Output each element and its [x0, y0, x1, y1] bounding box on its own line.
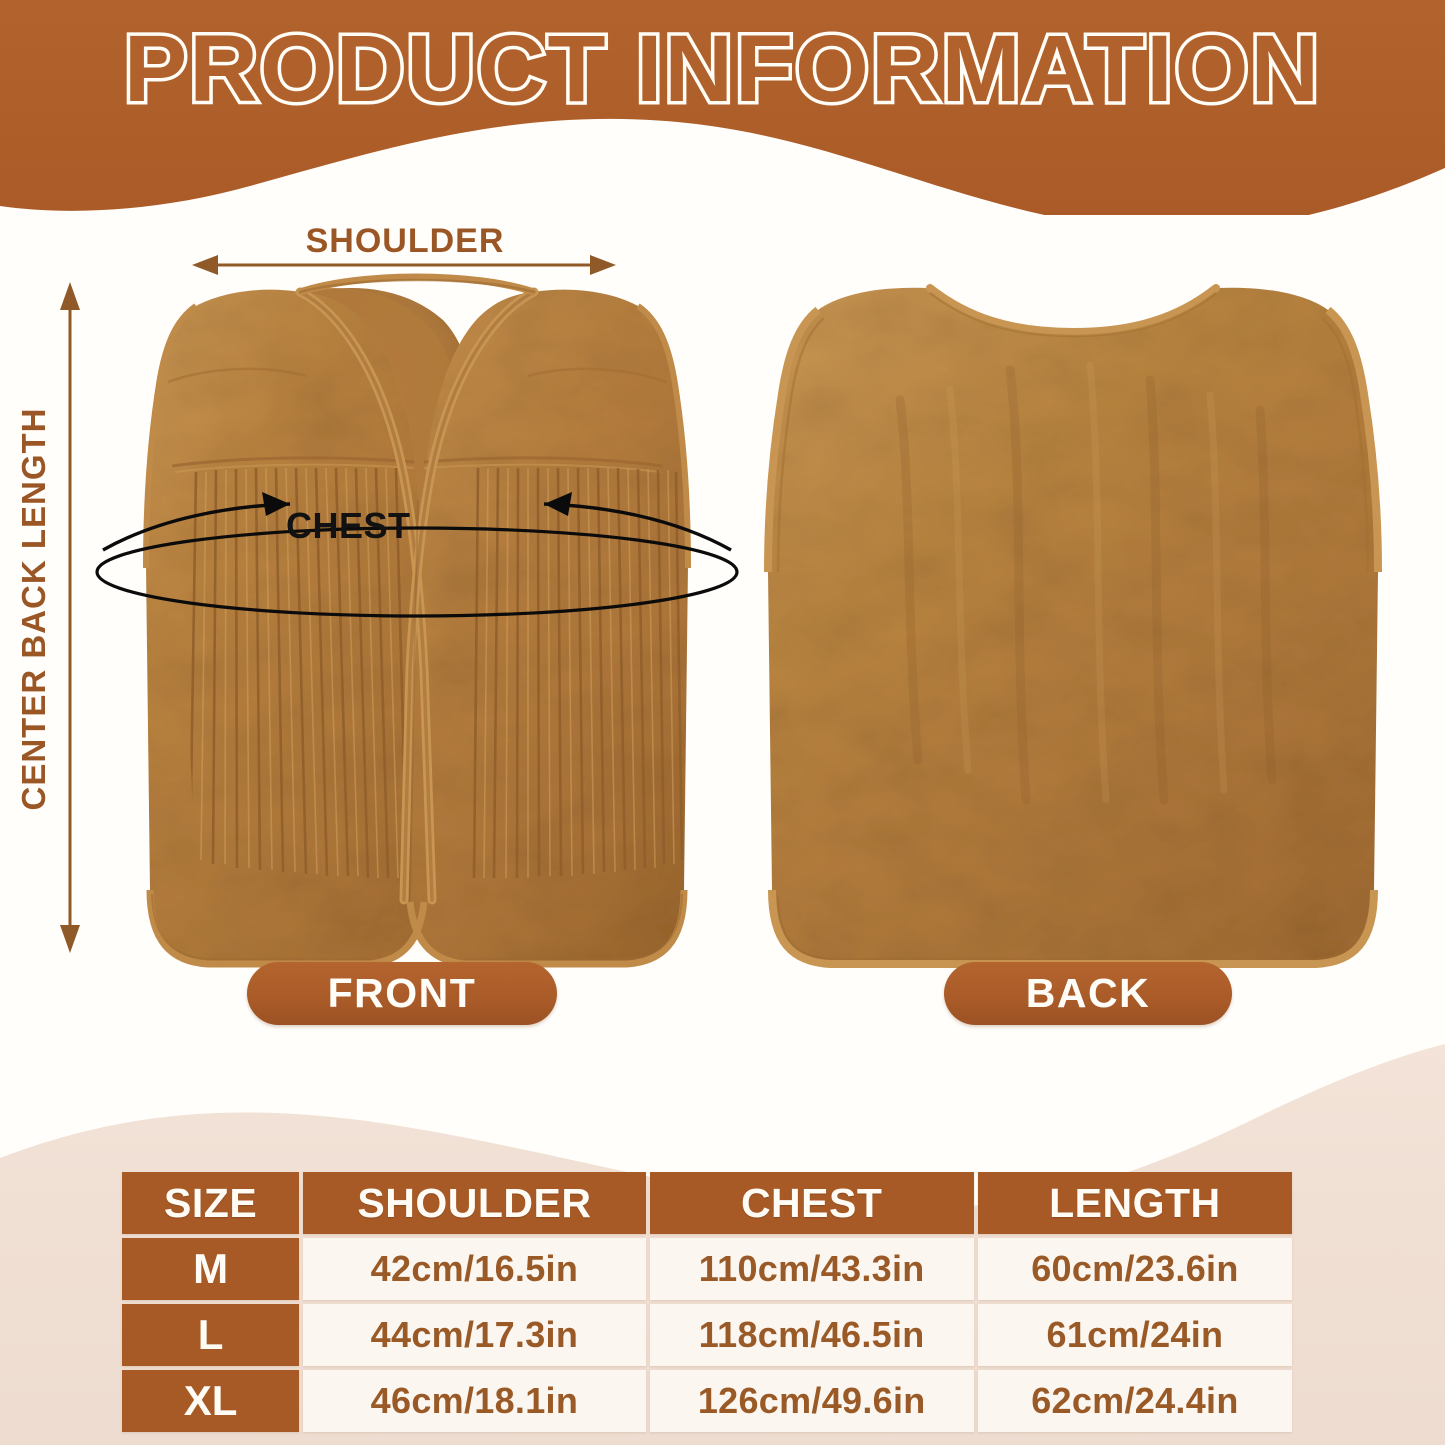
cell-size: XL [122, 1370, 299, 1432]
table-header-row: SIZE SHOULDER CHEST LENGTH [122, 1172, 1292, 1234]
page-title: PRODUCT INFORMATION [0, 22, 1445, 117]
column-header-shoulder: SHOULDER [303, 1172, 645, 1234]
cell-chest: 118cm/46.5in [650, 1304, 974, 1366]
cell-chest: 110cm/43.3in [650, 1238, 974, 1300]
vest-illustration [0, 200, 1445, 990]
cell-length: 60cm/23.6in [978, 1238, 1292, 1300]
vest-front-image [146, 277, 688, 964]
vest-back-image [768, 288, 1378, 964]
cell-size: L [122, 1304, 299, 1366]
cell-shoulder: 42cm/16.5in [303, 1238, 645, 1300]
back-view-badge: BACK [944, 962, 1232, 1025]
column-header-size: SIZE [122, 1172, 299, 1234]
table-row: L 44cm/17.3in 118cm/46.5in 61cm/24in [122, 1304, 1292, 1366]
column-header-length: LENGTH [978, 1172, 1292, 1234]
front-view-badge: FRONT [247, 962, 557, 1025]
cell-shoulder: 44cm/17.3in [303, 1304, 645, 1366]
vest-diagram-stage [0, 200, 1445, 990]
header-banner: PRODUCT INFORMATION [0, 0, 1445, 215]
cell-length: 61cm/24in [978, 1304, 1292, 1366]
size-chart-table: SIZE SHOULDER CHEST LENGTH M 42cm/16.5in… [118, 1168, 1296, 1436]
cell-length: 62cm/24.4in [978, 1370, 1292, 1432]
cell-shoulder: 46cm/18.1in [303, 1370, 645, 1432]
center-back-length-arrow [60, 282, 80, 953]
table-row: XL 46cm/18.1in 126cm/49.6in 62cm/24.4in [122, 1370, 1292, 1432]
center-back-length-label: CENTER BACK LENGTH [15, 329, 53, 889]
chest-label: CHEST [286, 505, 411, 547]
column-header-chest: CHEST [650, 1172, 974, 1234]
cell-chest: 126cm/49.6in [650, 1370, 974, 1432]
cell-size: M [122, 1238, 299, 1300]
table-row: M 42cm/16.5in 110cm/43.3in 60cm/23.6in [122, 1238, 1292, 1300]
fringe-right [474, 468, 682, 878]
chest-measure-annotation [97, 492, 737, 616]
shoulder-label: SHOULDER [200, 222, 610, 261]
